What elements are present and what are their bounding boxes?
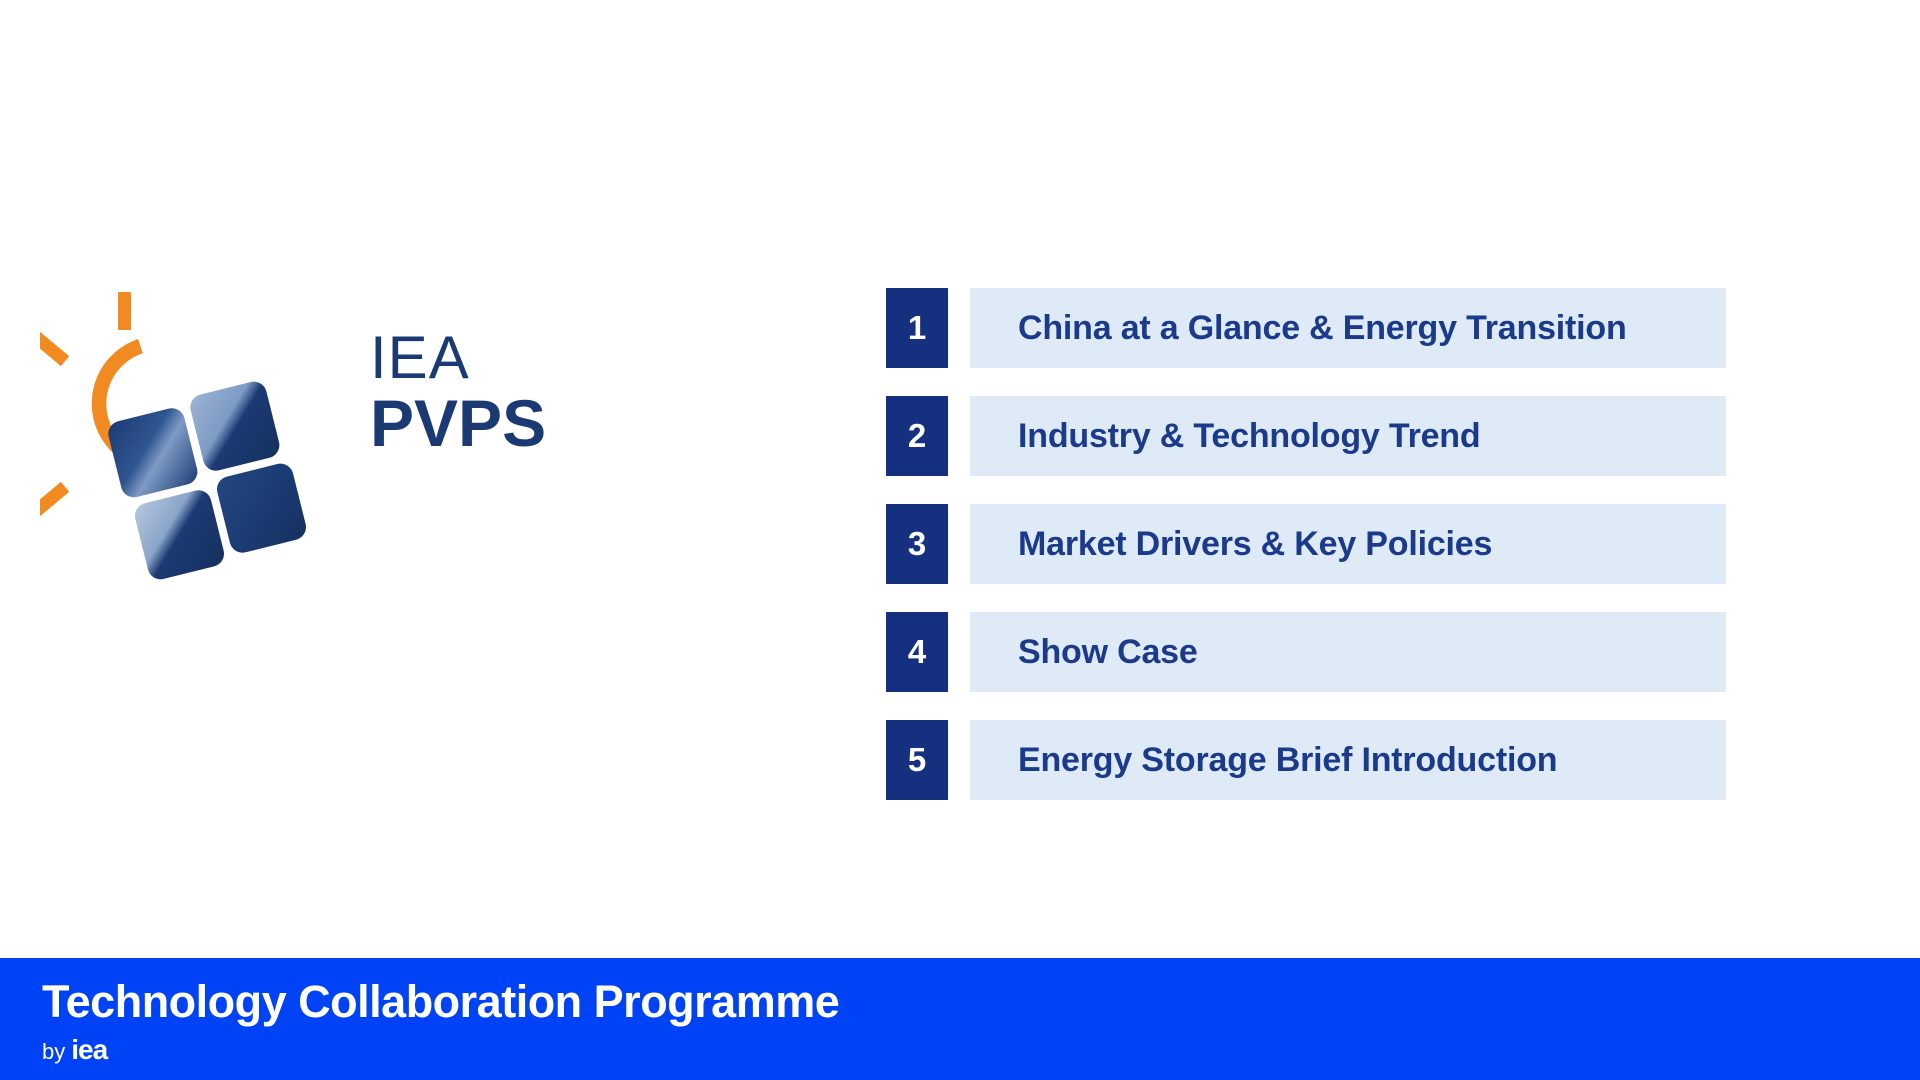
banner-title: Technology Collaboration Programme	[42, 976, 839, 1028]
agenda-number-badge: 3	[886, 504, 948, 584]
agenda-number-badge: 4	[886, 612, 948, 692]
iea-pvps-logo: IEA PVPS	[40, 280, 580, 610]
slide-canvas: IEA PVPS 1 China at a Glance & Energy Tr…	[0, 0, 1920, 1080]
banner-iea-wordmark: iea	[71, 1034, 107, 1065]
agenda-item-2[interactable]: 2 Industry & Technology Trend	[886, 396, 1726, 476]
agenda-list: 1 China at a Glance & Energy Transition …	[886, 288, 1726, 800]
agenda-item-label: Show Case	[970, 612, 1726, 692]
banner-subtitle-prefix: by	[42, 1039, 65, 1064]
agenda-item-3[interactable]: 3 Market Drivers & Key Policies	[886, 504, 1726, 584]
agenda-spacer	[948, 612, 970, 692]
sun-ray-top	[118, 292, 131, 330]
agenda-number-badge: 1	[886, 288, 948, 368]
agenda-spacer	[948, 720, 970, 800]
tcp-banner: Technology Collaboration Programme byiea	[0, 958, 1920, 1080]
panel-bottom-right	[214, 461, 309, 556]
agenda-item-label: Energy Storage Brief Introduction	[970, 720, 1726, 800]
logo-mark	[40, 280, 350, 610]
agenda-item-label: Industry & Technology Trend	[970, 396, 1726, 476]
logo-wordmark-iea: IEA	[370, 328, 590, 388]
panel-top-left	[106, 406, 201, 501]
agenda-spacer	[948, 396, 970, 476]
agenda-spacer	[948, 288, 970, 368]
sun-ray-lower-left	[40, 482, 69, 516]
agenda-item-label: Market Drivers & Key Policies	[970, 504, 1726, 584]
agenda-item-5[interactable]: 5 Energy Storage Brief Introduction	[886, 720, 1726, 800]
agenda-number-badge: 2	[886, 396, 948, 476]
agenda-number-badge: 5	[886, 720, 948, 800]
logo-svg	[40, 280, 350, 610]
solar-panel-icon	[104, 377, 310, 583]
sun-ray-upper-left	[40, 332, 69, 366]
agenda-item-label: China at a Glance & Energy Transition	[970, 288, 1726, 368]
logo-wordmark: IEA PVPS	[370, 328, 590, 508]
banner-subtitle: byiea	[42, 1034, 107, 1066]
agenda-spacer	[948, 504, 970, 584]
logo-wordmark-pvps: PVPS	[370, 390, 590, 456]
agenda-item-4[interactable]: 4 Show Case	[886, 612, 1726, 692]
agenda-item-1[interactable]: 1 China at a Glance & Energy Transition	[886, 288, 1726, 368]
panel-bottom-left	[132, 488, 227, 583]
panel-top-right	[188, 379, 283, 474]
